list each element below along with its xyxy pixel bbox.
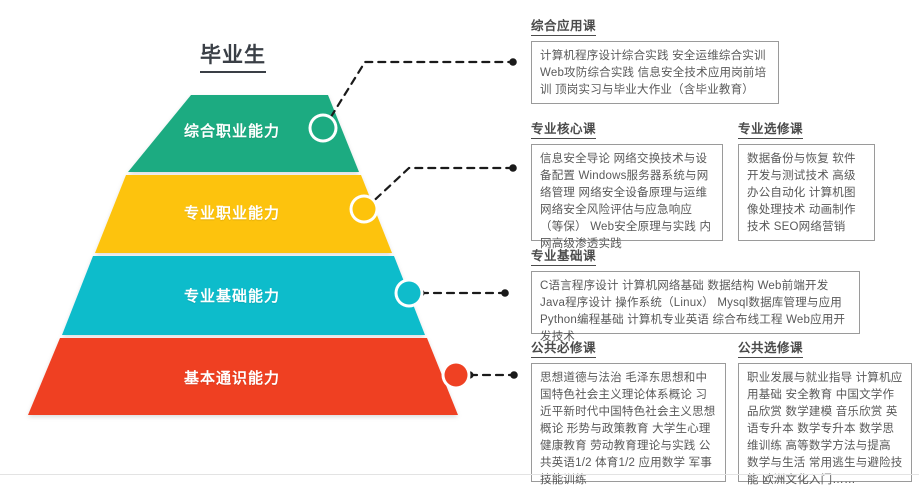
course-group-professional-core: 专业核心课 信息安全导论 网络交换技术与设备配置 Windows服务器系统与网络… xyxy=(531,120,723,241)
page-title: 毕业生 xyxy=(200,43,266,73)
connector-red xyxy=(466,371,517,379)
course-group-heading: 公共必修课 xyxy=(531,341,596,358)
course-group-heading: 专业核心课 xyxy=(531,122,596,139)
connector-yellow xyxy=(362,164,516,211)
node-green[interactable] xyxy=(309,114,338,143)
connector-cyan xyxy=(417,289,508,297)
course-group-comprehensive-application: 综合应用课 计算机程序设计综合实践 安全运维综合实训 Web攻防综合实践 信息安… xyxy=(531,17,779,104)
course-group-public-required: 公共必修课 思想道德与法治 毛泽东思想和中国特色社会主义理论体系概论 习近平新时… xyxy=(531,339,726,482)
pyramid-tier-label-comprehensive: 综合职业能力 xyxy=(184,120,280,141)
course-group-professional-elective: 专业选修课 数据备份与恢复 软件开发与测试技术 高级办公自动化 计算机图像处理技… xyxy=(738,120,875,241)
connector-green xyxy=(320,58,516,131)
pyramid-diagram: 毕业生 综合职业能力 专业职业能力 专业基础能力 基本通识能力 综合应用课 计算… xyxy=(0,0,919,480)
course-group-heading: 公共选修课 xyxy=(738,341,803,358)
node-red[interactable] xyxy=(442,361,471,390)
course-group-body: C语言程序设计 计算机网络基础 数据结构 Web前端开发 Java程序设计 操作… xyxy=(531,271,860,334)
course-group-body: 计算机程序设计综合实践 安全运维综合实训 Web攻防综合实践 信息安全技术应用岗… xyxy=(531,41,779,104)
course-group-public-elective: 公共选修课 职业发展与就业指导 计算机应用基础 安全教育 中国文学作品欣赏 数学… xyxy=(738,339,912,482)
node-yellow[interactable] xyxy=(350,195,379,224)
course-group-body: 思想道德与法治 毛泽东思想和中国特色社会主义理论体系概论 习近平新时代中国特色社… xyxy=(531,363,726,482)
course-group-heading: 专业选修课 xyxy=(738,122,803,139)
pyramid-tier-label-foundation: 专业基础能力 xyxy=(184,285,280,306)
node-cyan[interactable] xyxy=(395,279,424,308)
course-group-heading: 综合应用课 xyxy=(531,19,596,36)
course-group-body: 职业发展与就业指导 计算机应用基础 安全教育 中国文学作品欣赏 数学建模 音乐欣… xyxy=(738,363,912,482)
pyramid-tier-label-general: 基本通识能力 xyxy=(184,367,280,388)
course-group-body: 数据备份与恢复 软件开发与测试技术 高级办公自动化 计算机图像处理技术 动画制作… xyxy=(738,144,875,241)
pyramid-tier-label-professional: 专业职业能力 xyxy=(184,202,280,223)
course-group-heading: 专业基础课 xyxy=(531,249,596,266)
bottom-divider xyxy=(0,474,919,475)
course-group-body: 信息安全导论 网络交换技术与设备配置 Windows服务器系统与网络管理 网络安… xyxy=(531,144,723,241)
course-group-professional-foundation: 专业基础课 C语言程序设计 计算机网络基础 数据结构 Web前端开发 Java程… xyxy=(531,247,860,334)
